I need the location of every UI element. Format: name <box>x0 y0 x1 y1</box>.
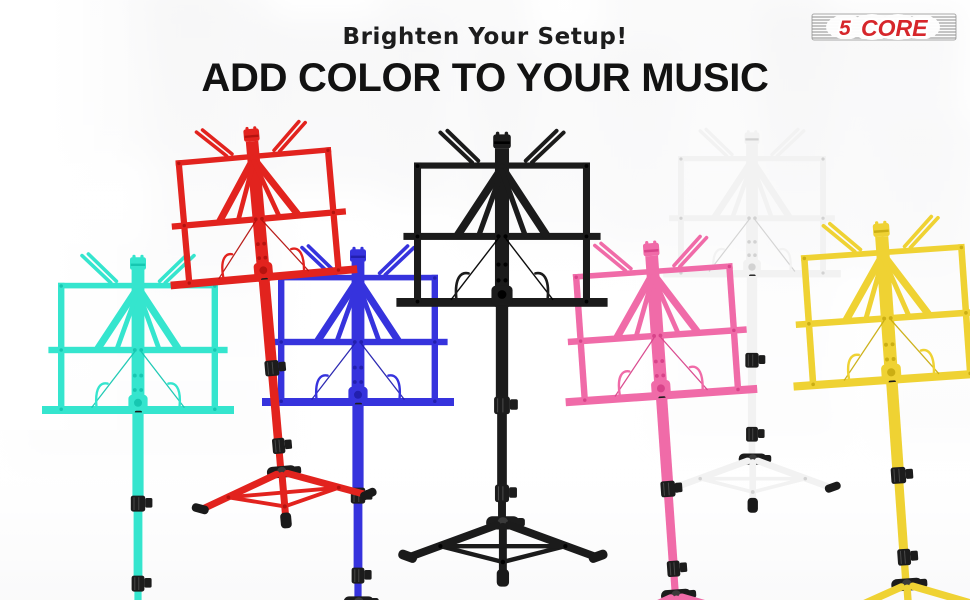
desk-top-knuckle <box>872 220 889 237</box>
desk-frame <box>784 230 970 391</box>
desk-top-knuckle <box>643 240 660 256</box>
pole-clamp-lower <box>352 568 372 584</box>
logo-word: CORE <box>861 15 928 41</box>
stand-desk <box>396 131 608 587</box>
pole-clamp-upper <box>494 397 518 415</box>
brand-logo-icon: 5 5 CORE CORE <box>810 8 958 48</box>
pole-clamp-upper <box>264 359 286 376</box>
music-stand-graphic <box>774 205 970 600</box>
tripod-legs <box>410 525 595 574</box>
stand-yellow <box>774 205 970 600</box>
desk-top-knuckle <box>130 255 146 270</box>
pole-clamp-lower <box>897 548 919 566</box>
pole-clamp-upper <box>890 466 913 484</box>
stand-desk <box>782 213 970 600</box>
tripod-hub <box>344 596 379 600</box>
promo-banner: Brighten Your Setup! ADD COLOR TO YOUR M… <box>0 0 970 600</box>
pole-clamp-upper <box>131 496 153 512</box>
pole-clamp-lower <box>272 437 293 454</box>
main-headline: ADD COLOR TO YOUR MUSIC <box>0 50 970 101</box>
desk-top-knuckle <box>745 130 760 144</box>
music-stand-graphic <box>388 122 617 580</box>
pole-clamp-lower <box>495 485 517 503</box>
music-stand-graphic <box>149 109 386 531</box>
stand-desk <box>157 118 380 537</box>
logo-number: 5 <box>839 17 851 40</box>
pole-clamp-upper <box>660 480 683 497</box>
stand-black <box>388 122 617 580</box>
pole-clamp-lower <box>667 560 688 577</box>
pole-clamp-lower <box>132 576 152 592</box>
desk-top-knuckle <box>493 132 511 149</box>
stand-red <box>149 109 386 531</box>
brand-logo: 5 5 CORE CORE <box>810 8 958 48</box>
desk-top-knuckle <box>243 126 260 142</box>
